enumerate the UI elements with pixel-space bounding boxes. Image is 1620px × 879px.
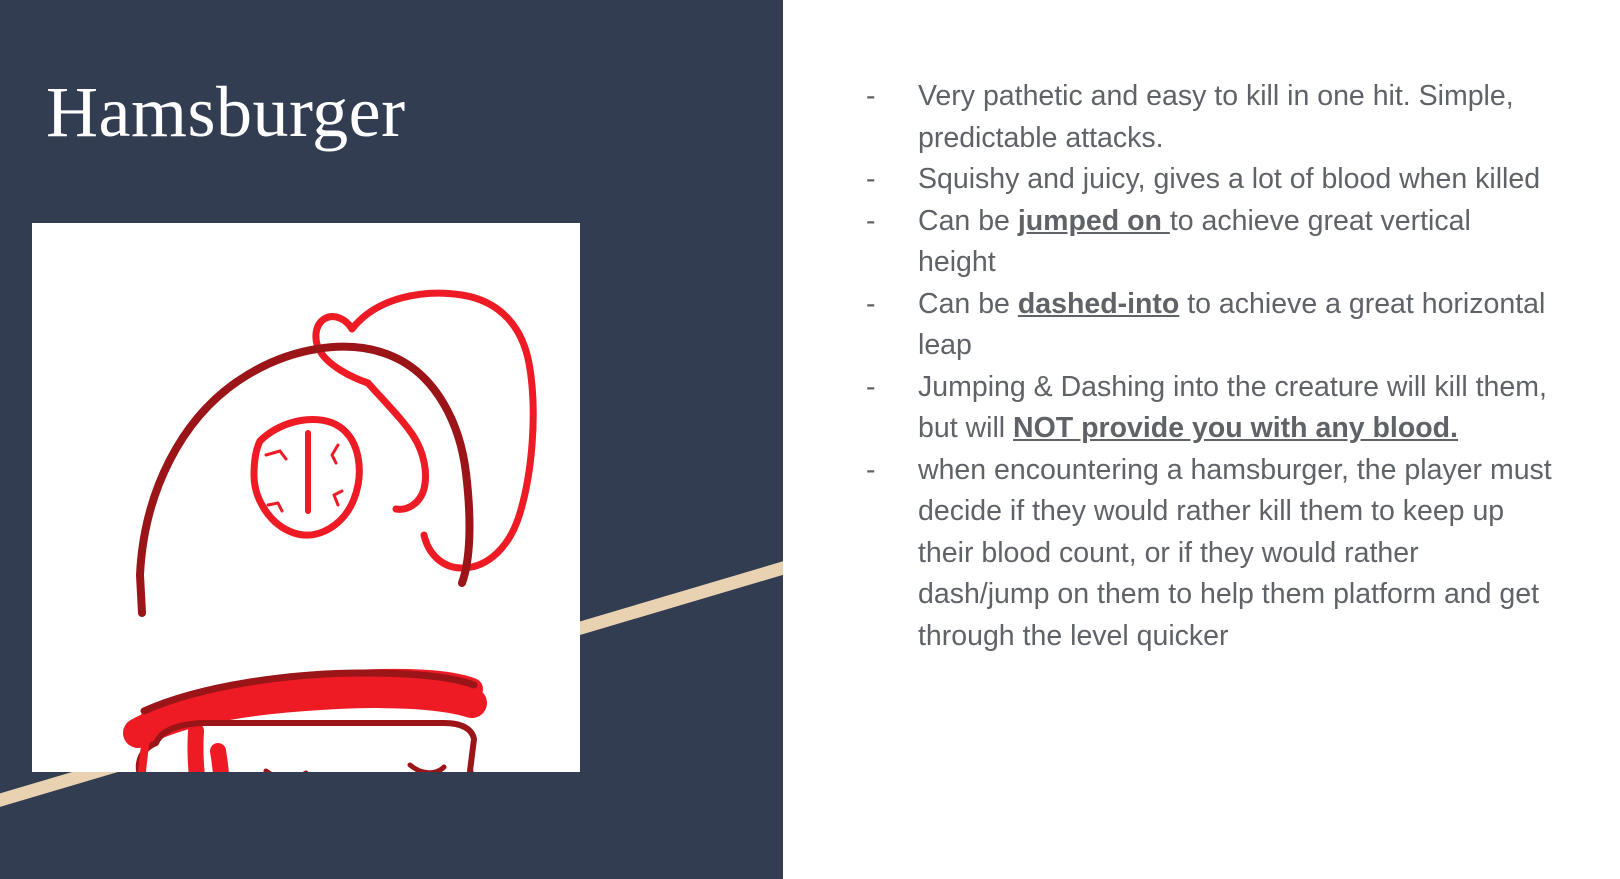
bullet-text: when encountering a hamsburger, the play… [918, 454, 1552, 652]
bullet-dash-icon: - [866, 159, 876, 201]
list-item: -Jumping & Dashing into the creature wil… [856, 367, 1556, 450]
page-title: Hamsburger [46, 75, 746, 151]
bullet-emphasis: dashed-into [1018, 288, 1180, 320]
bullet-dash-icon: - [866, 284, 876, 326]
list-item: -Can be dashed-into to achieve a great h… [856, 284, 1556, 367]
feature-bullet-list: -Very pathetic and easy to kill in one h… [856, 76, 1556, 657]
body-text-panel: -Very pathetic and easy to kill in one h… [856, 76, 1556, 657]
bullet-text: Can be [918, 205, 1018, 237]
bullet-text: Squishy and juicy, gives a lot of blood … [918, 163, 1540, 195]
bullet-text: Can be [918, 288, 1018, 320]
bullet-text: Very pathetic and easy to kill in one hi… [918, 80, 1514, 154]
list-item: -Squishy and juicy, gives a lot of blood… [856, 159, 1556, 201]
bullet-emphasis: jumped on [1018, 205, 1170, 237]
bullet-emphasis: NOT provide you with any blood. [1013, 412, 1458, 444]
bullet-dash-icon: - [866, 367, 876, 409]
bullet-dash-icon: - [866, 201, 876, 243]
list-item: -Very pathetic and easy to kill in one h… [856, 76, 1556, 159]
left-navy-panel: Hamsburger [0, 0, 783, 879]
presentation-slide: Hamsburger [0, 0, 1620, 879]
list-item: -when encountering a hamsburger, the pla… [856, 450, 1556, 658]
hamsburger-drawing-card [32, 223, 580, 772]
bullet-dash-icon: - [866, 76, 876, 118]
bullet-dash-icon: - [866, 450, 876, 492]
list-item: -Can be jumped on to achieve great verti… [856, 201, 1556, 284]
hamsburger-sketch-icon [32, 223, 580, 772]
